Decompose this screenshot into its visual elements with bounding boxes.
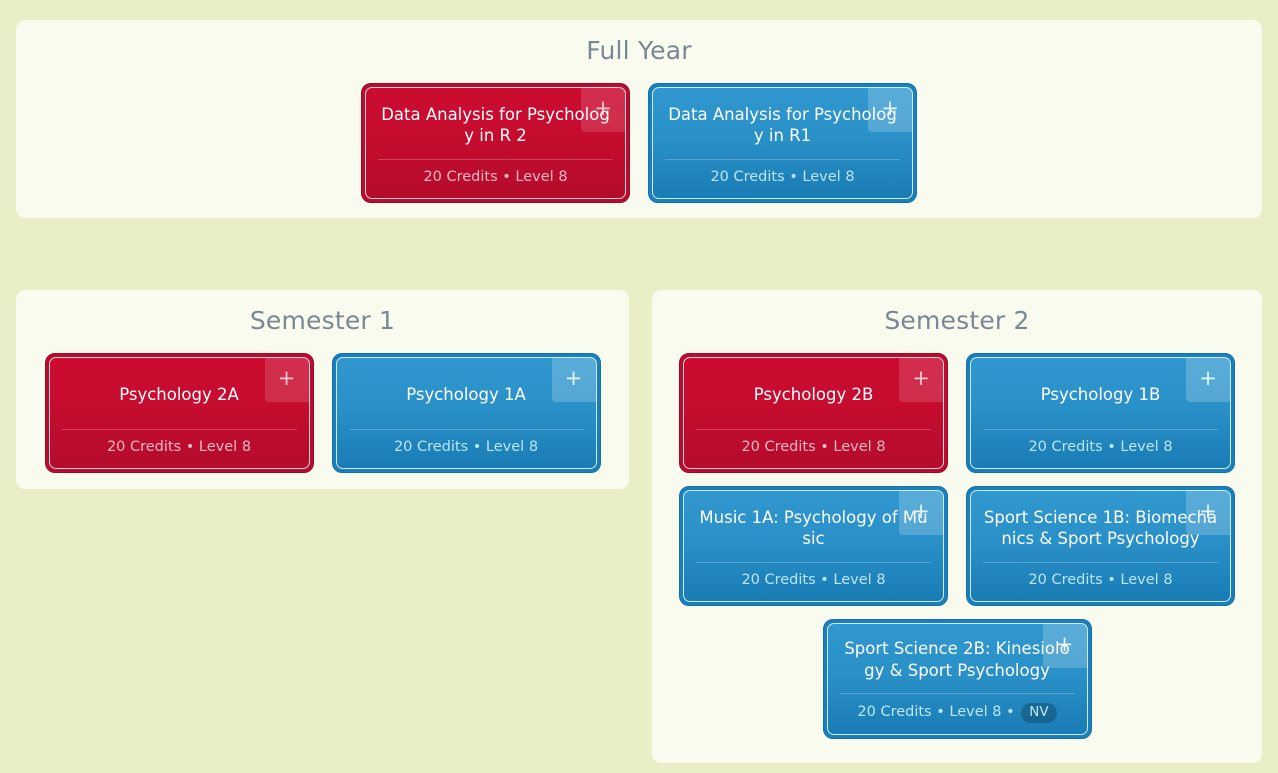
course-title: Psychology 2A — [119, 384, 239, 406]
add-course-button[interactable]: + — [868, 88, 912, 132]
plus-icon: + — [881, 98, 899, 119]
add-course-button[interactable]: + — [899, 491, 943, 535]
add-course-button[interactable]: + — [1186, 358, 1230, 402]
course-title: Sport Science 2B: Kinesiology & Sport Ps… — [840, 638, 1075, 682]
card-row: + Psychology 2A 20 Credits • Level 8 + — [16, 353, 629, 473]
course-meta: 20 Credits • Level 8 — [696, 572, 931, 589]
add-course-button[interactable]: + — [899, 358, 943, 402]
card-divider — [983, 562, 1218, 563]
course-card-footer: 20 Credits • Level 8 — [971, 429, 1230, 467]
course-meta: 20 Credits • Level 8 • NV — [840, 703, 1075, 723]
card-row: + Data Analysis for Psychology in R 2 20… — [16, 83, 1262, 203]
course-title: Psychology 2B — [754, 384, 874, 406]
course-title: Sport Science 1B: Biomechanics & Sport P… — [983, 507, 1218, 551]
add-course-button[interactable]: + — [581, 88, 625, 132]
course-card-footer: 20 Credits • Level 8 — [971, 562, 1230, 600]
plus-icon: + — [1199, 501, 1217, 522]
course-card[interactable]: + Psychology 2B 20 Credits • Level 8 — [679, 353, 948, 473]
course-card-inner: + Psychology 2B 20 Credits • Level 8 — [683, 357, 944, 469]
card-divider — [62, 429, 297, 430]
course-card-inner: + Sport Science 1B: Biomechanics & Sport… — [970, 490, 1231, 602]
course-meta: 20 Credits • Level 8 — [378, 169, 613, 186]
course-card-footer: 20 Credits • Level 8 — [366, 159, 625, 197]
card-divider — [378, 159, 613, 160]
course-card[interactable]: + Music 1A: Psychology of Music 20 Credi… — [679, 486, 948, 606]
plus-icon: + — [565, 368, 583, 389]
course-card-footer: 20 Credits • Level 8 — [684, 562, 943, 600]
course-meta: 20 Credits • Level 8 — [349, 439, 584, 456]
course-card-inner: + Psychology 2A 20 Credits • Level 8 — [49, 357, 310, 469]
plus-icon: + — [594, 98, 612, 119]
course-card-inner: + Sport Science 2B: Kinesiology & Sport … — [827, 623, 1088, 735]
course-meta-text: 20 Credits • Level 8 • — [857, 704, 1019, 720]
course-card-footer: 20 Credits • Level 8 • NV — [828, 693, 1087, 734]
course-card[interactable]: + Psychology 1A 20 Credits • Level 8 — [332, 353, 601, 473]
course-card-inner: + Music 1A: Psychology of Music 20 Credi… — [683, 490, 944, 602]
plus-icon: + — [912, 368, 930, 389]
card-divider — [696, 562, 931, 563]
add-course-button[interactable]: + — [552, 358, 596, 402]
status-badge: NV — [1021, 703, 1056, 723]
course-meta: 20 Credits • Level 8 — [983, 572, 1218, 589]
card-row: + Psychology 2B 20 Credits • Level 8 + — [652, 353, 1262, 473]
course-card-footer: 20 Credits • Level 8 — [337, 429, 596, 467]
section-title-semester-2: Semester 2 — [652, 290, 1262, 335]
course-card-inner: + Data Analysis for Psychology in R 2 20… — [365, 87, 626, 199]
course-card[interactable]: + Sport Science 2B: Kinesiology & Sport … — [823, 619, 1092, 739]
section-title-full-year: Full Year — [16, 20, 1262, 65]
course-title: Music 1A: Psychology of Music — [696, 507, 931, 551]
card-row: + Sport Science 2B: Kinesiology & Sport … — [652, 619, 1262, 739]
section-title-semester-1: Semester 1 — [16, 290, 629, 335]
course-meta: 20 Credits • Level 8 — [696, 439, 931, 456]
card-divider — [696, 429, 931, 430]
add-course-button[interactable]: + — [1043, 624, 1087, 668]
course-meta: 20 Credits • Level 8 — [665, 169, 900, 186]
course-title: Data Analysis for Psychology in R 2 — [378, 104, 613, 148]
course-meta: 20 Credits • Level 8 — [62, 439, 297, 456]
course-card[interactable]: + Psychology 2A 20 Credits • Level 8 — [45, 353, 314, 473]
card-divider — [349, 429, 584, 430]
course-card-footer: 20 Credits • Level 8 — [653, 159, 912, 197]
course-card[interactable]: + Psychology 1B 20 Credits • Level 8 — [966, 353, 1235, 473]
card-row: + Music 1A: Psychology of Music 20 Credi… — [652, 486, 1262, 606]
card-divider — [665, 159, 900, 160]
course-title: Psychology 1B — [1041, 384, 1161, 406]
course-title: Data Analysis for Psychology in R1 — [665, 104, 900, 148]
section-semester-1: Semester 1 + Psychology 2A 20 Credits • … — [16, 290, 629, 489]
card-divider — [983, 429, 1218, 430]
course-card-inner: + Psychology 1B 20 Credits • Level 8 — [970, 357, 1231, 469]
section-full-year: Full Year + Data Analysis for Psychology… — [16, 20, 1262, 218]
plus-icon: + — [1199, 368, 1217, 389]
course-planner-board: Full Year + Data Analysis for Psychology… — [0, 0, 1278, 773]
plus-icon: + — [278, 368, 296, 389]
course-title: Psychology 1A — [406, 384, 526, 406]
course-card-inner: + Psychology 1A 20 Credits • Level 8 — [336, 357, 597, 469]
course-card[interactable]: + Data Analysis for Psychology in R 2 20… — [361, 83, 630, 203]
section-semester-2: Semester 2 + Psychology 2B 20 Credits • … — [652, 290, 1262, 763]
plus-icon: + — [1056, 634, 1074, 655]
add-course-button[interactable]: + — [265, 358, 309, 402]
course-card[interactable]: + Sport Science 1B: Biomechanics & Sport… — [966, 486, 1235, 606]
course-card-inner: + Data Analysis for Psychology in R1 20 … — [652, 87, 913, 199]
course-card[interactable]: + Data Analysis for Psychology in R1 20 … — [648, 83, 917, 203]
course-card-footer: 20 Credits • Level 8 — [50, 429, 309, 467]
card-divider — [840, 693, 1075, 694]
add-course-button[interactable]: + — [1186, 491, 1230, 535]
course-meta: 20 Credits • Level 8 — [983, 439, 1218, 456]
course-card-footer: 20 Credits • Level 8 — [684, 429, 943, 467]
plus-icon: + — [912, 501, 930, 522]
